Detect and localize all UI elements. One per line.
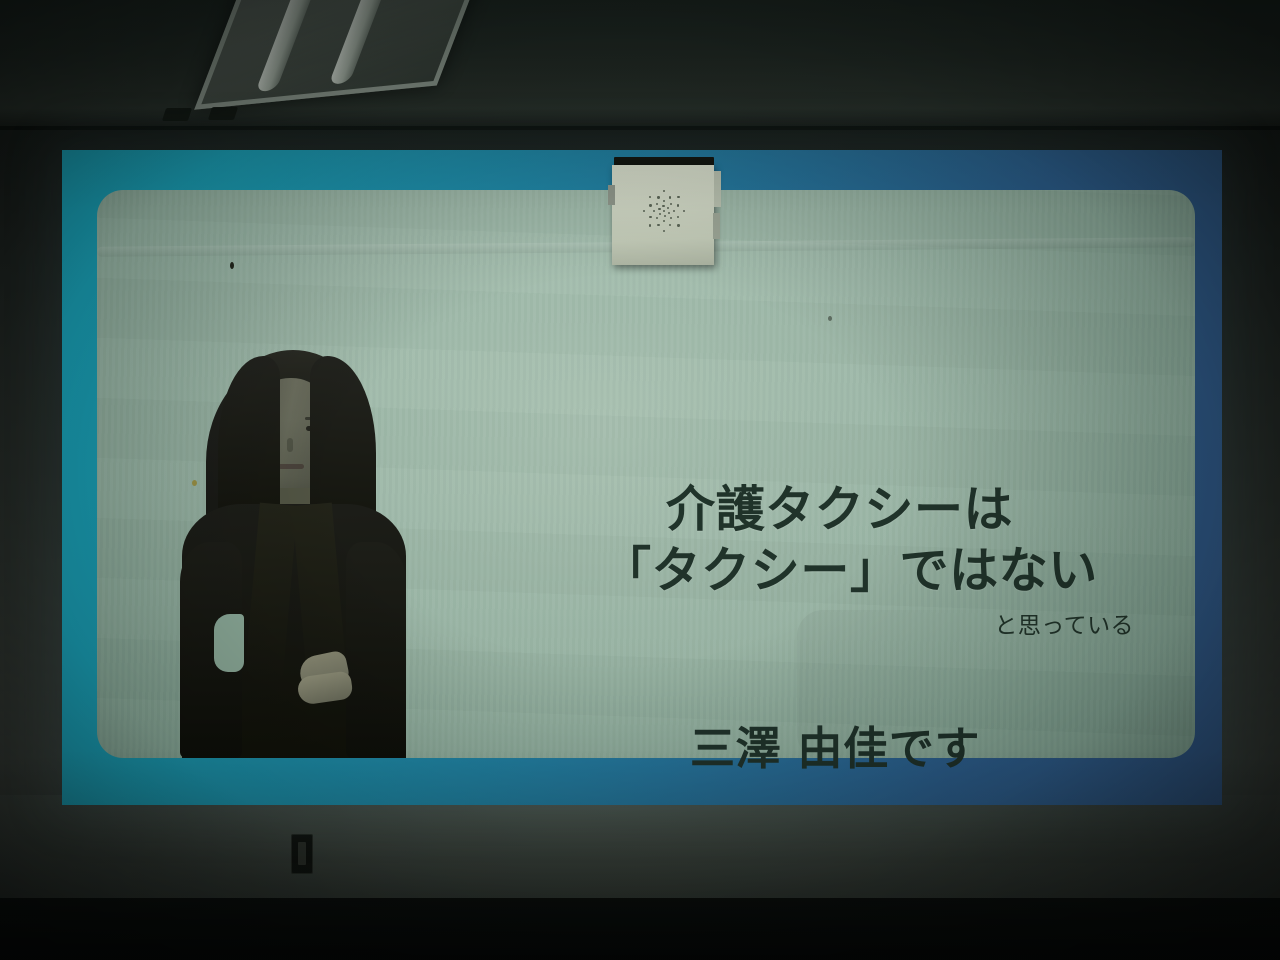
screen-speck bbox=[828, 316, 832, 321]
slide-headline: 介護タクシーは 「タクシー」ではない bbox=[602, 480, 1202, 602]
presenter-portrait bbox=[158, 346, 428, 758]
nose bbox=[287, 438, 293, 452]
device-side-tab bbox=[714, 171, 721, 207]
device-side-tab bbox=[713, 213, 720, 239]
device-side-tab bbox=[608, 185, 615, 205]
wall-switch[interactable] bbox=[291, 834, 313, 874]
ceiling-fixture bbox=[162, 108, 192, 121]
presenter-name: 三澤 由佳です bbox=[602, 712, 1202, 777]
slide-text-block: 介護タクシーは 「タクシー」ではない と思っている 三澤 由佳です bbox=[602, 480, 1202, 777]
device-perforation-pattern bbox=[642, 189, 684, 231]
ceiling bbox=[0, 0, 1280, 132]
arm-right bbox=[346, 542, 406, 758]
elbow-gap bbox=[214, 614, 244, 672]
screen-speck bbox=[192, 480, 197, 486]
projected-slide-scene: 介護タクシーは 「タクシー」ではない と思っている 三澤 由佳です bbox=[0, 0, 1280, 960]
slide-subline: と思っている bbox=[602, 606, 1202, 640]
wall-speaker-device bbox=[608, 157, 721, 267]
wall-light-spill bbox=[0, 795, 1280, 905]
mouth bbox=[278, 464, 304, 469]
ceiling-fixture bbox=[208, 107, 238, 120]
headline-line-1: 介護タクシーは bbox=[602, 480, 1202, 541]
wall-base-shadow bbox=[0, 898, 1280, 960]
ceiling-light-fixture bbox=[194, 0, 494, 110]
screen-speck bbox=[230, 262, 234, 269]
headline-line-2: 「タクシー」ではない bbox=[602, 541, 1202, 602]
